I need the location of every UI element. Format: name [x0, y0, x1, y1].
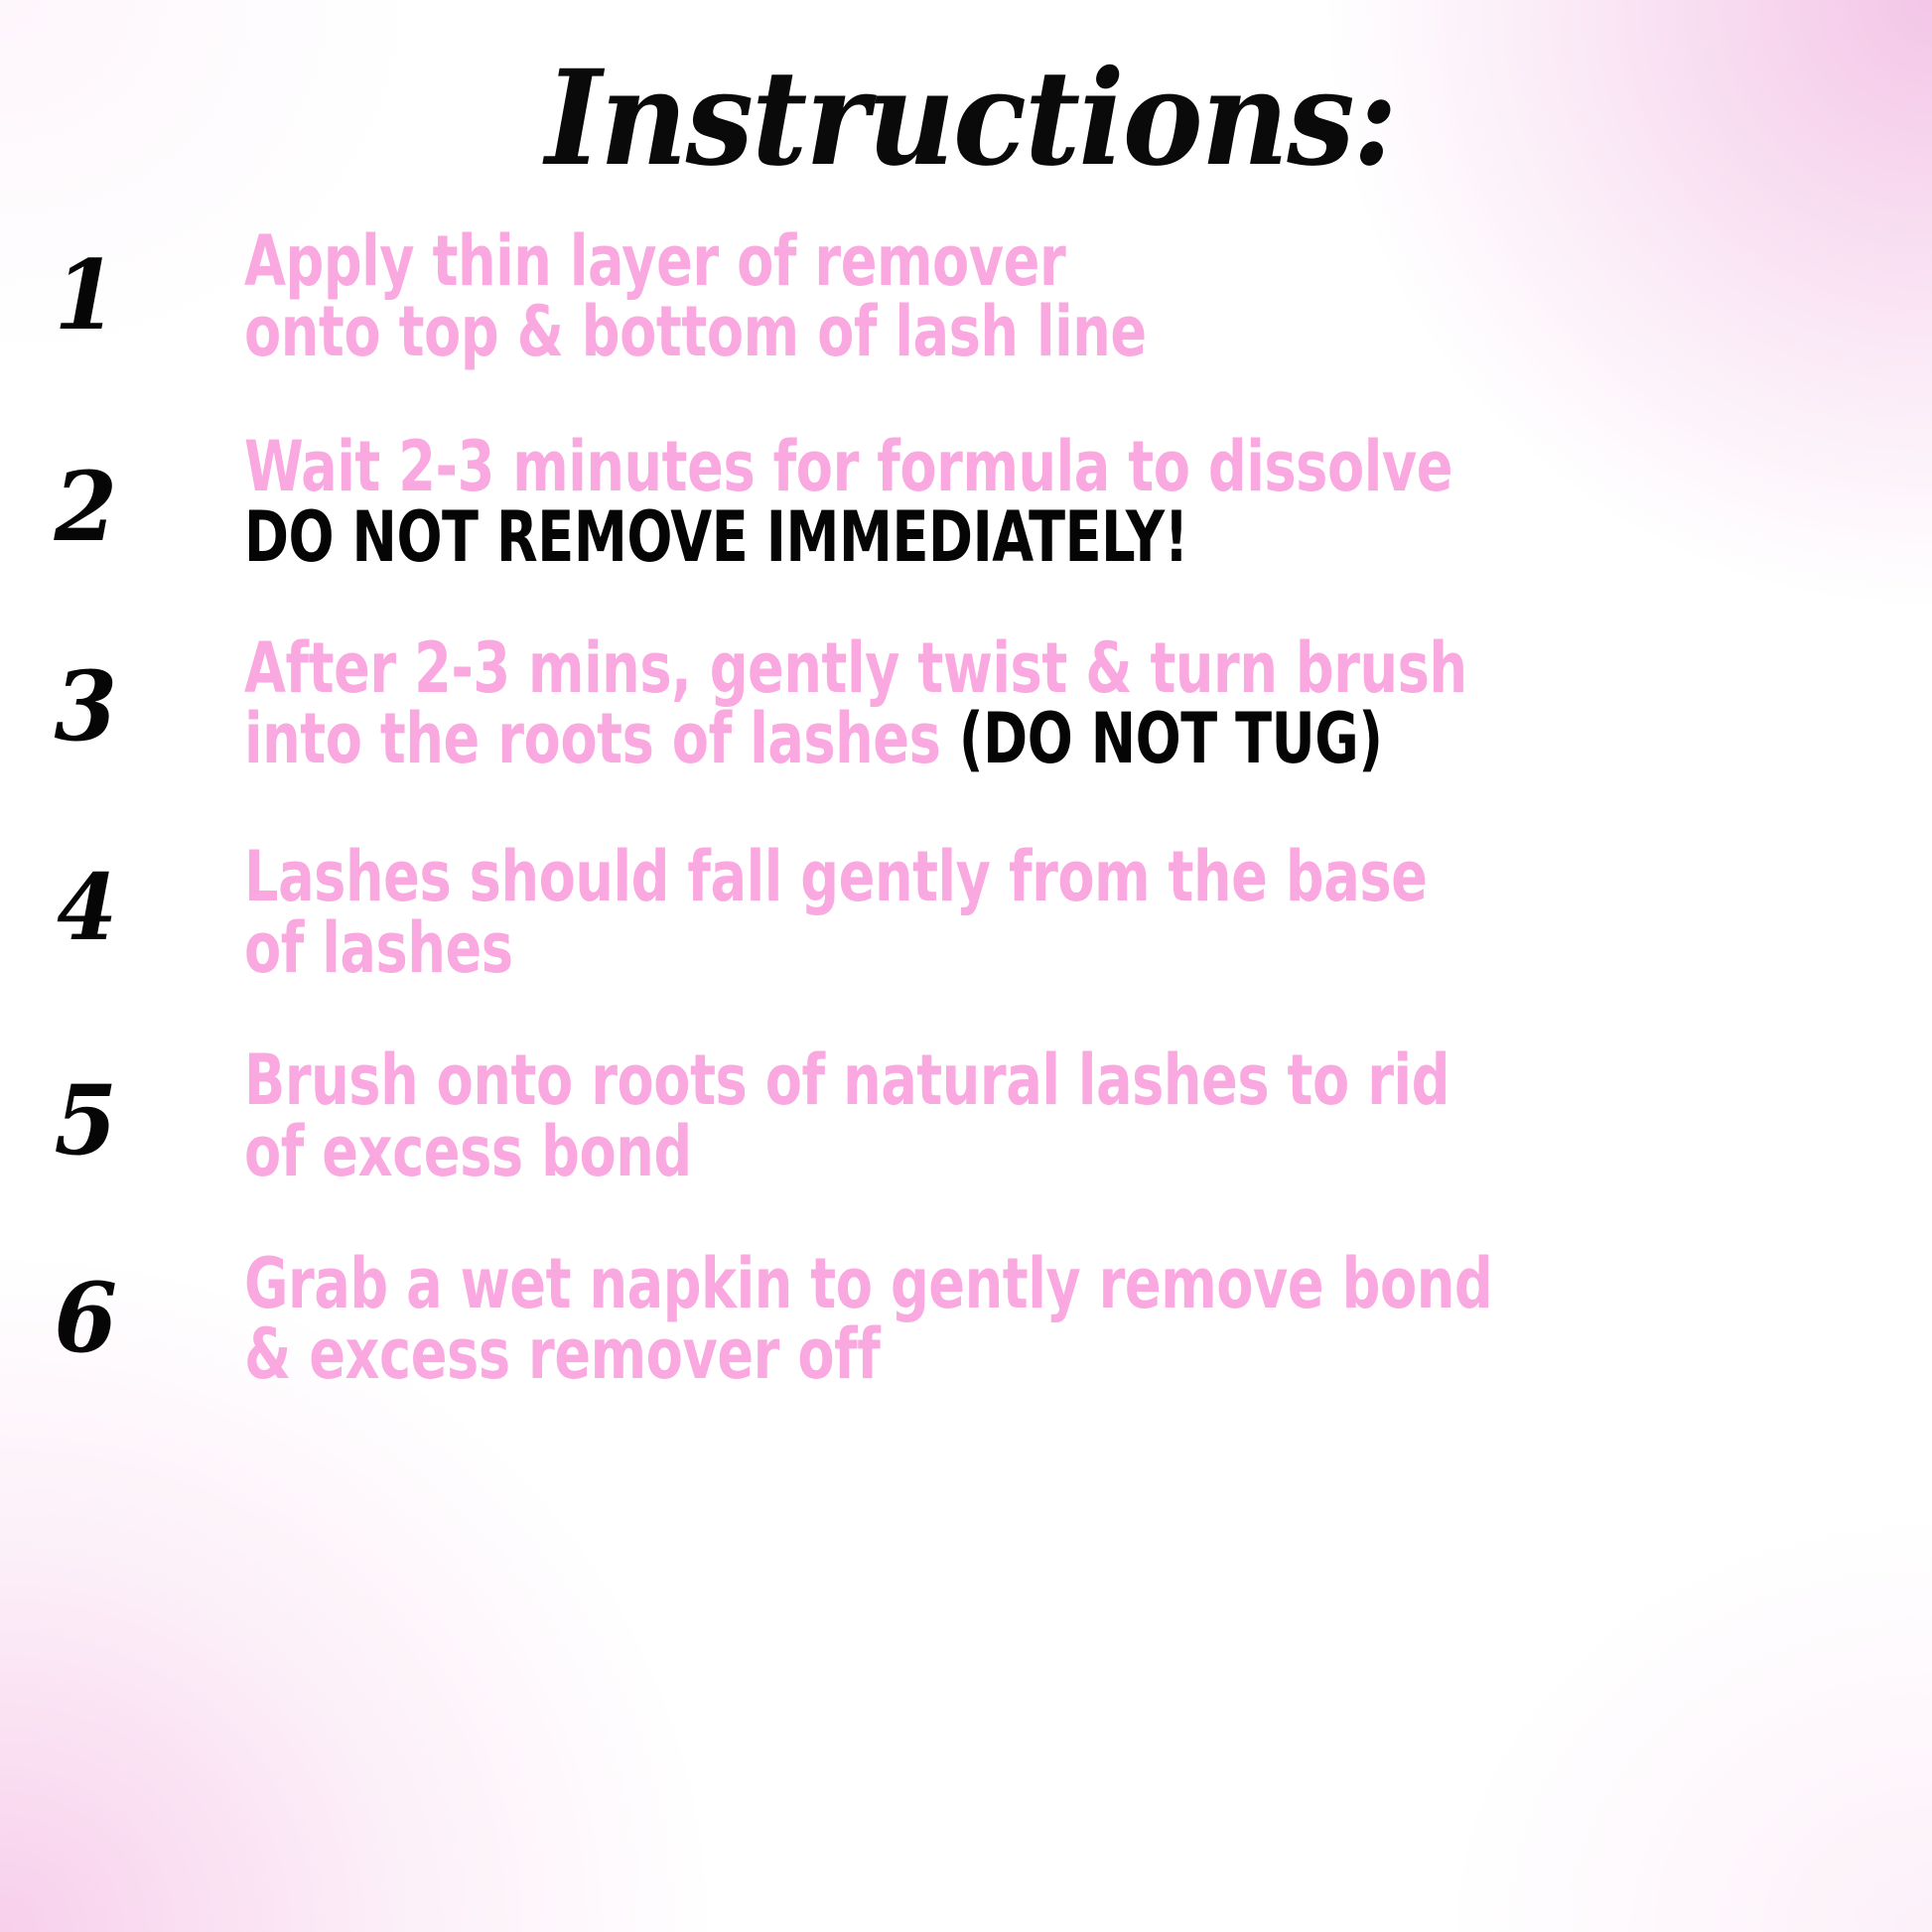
step-text-segment: Brush onto roots of natural lashes to ri… [244, 1039, 1449, 1121]
instruction-step: 6Grab a wet napkin to gently remove bond… [0, 1249, 1932, 1391]
step-text-line: Grab a wet napkin to gently remove bond [244, 1249, 1696, 1319]
instructions-page: Instructions: 1Apply thin layer of remov… [0, 0, 1932, 1932]
step-text-line: Lashes should fall gently from the base [244, 842, 1696, 912]
step-text: After 2-3 mins, gently twist & turn brus… [244, 633, 1696, 775]
page-title-container: Instructions: [0, 54, 1932, 185]
instruction-step: 2Wait 2-3 minutes for formula to dissolv… [0, 432, 1932, 574]
step-text-line: of lashes [244, 913, 1696, 984]
step-text-line: Brush onto roots of natural lashes to ri… [244, 1045, 1696, 1116]
step-number: 3 [6, 659, 117, 755]
step-text-segment: Wait 2-3 minutes for formula to dissolve [244, 426, 1452, 507]
instruction-step: 3After 2-3 mins, gently twist & turn bru… [0, 633, 1932, 775]
step-text-emphasis: (DO NOT TUG) [959, 698, 1383, 779]
instruction-step: 4Lashes should fall gently from the base… [0, 842, 1932, 984]
instruction-step: 5Brush onto roots of natural lashes to r… [0, 1045, 1932, 1187]
step-text-segment: Lashes should fall gently from the base [244, 836, 1427, 917]
step-text-line: of excess bond [244, 1117, 1696, 1187]
step-number: 5 [6, 1073, 117, 1169]
step-text-segment: of lashes [244, 907, 513, 989]
step-number: 6 [6, 1271, 117, 1366]
step-text-line: & excess remover off [244, 1319, 1696, 1390]
step-number: 4 [6, 862, 117, 953]
step-text-line: onto top & bottom of lash line [244, 297, 1696, 367]
step-text: Lashes should fall gently from the baseo… [244, 842, 1696, 984]
instruction-steps-list: 1Apply thin layer of removeronto top & b… [0, 226, 1932, 1391]
step-text: Grab a wet napkin to gently remove bond&… [244, 1249, 1696, 1391]
page-title: Instructions: [546, 54, 1397, 185]
step-text: Apply thin layer of removeronto top & bo… [244, 226, 1696, 368]
instruction-step: 1Apply thin layer of removeronto top & b… [0, 226, 1932, 368]
step-text-segment: into the roots of lashes [244, 698, 959, 779]
step-text: Wait 2-3 minutes for formula to dissolve… [244, 432, 1696, 574]
step-text-segment: After 2-3 mins, gently twist & turn brus… [244, 627, 1467, 709]
step-text-segment: onto top & bottom of lash line [244, 291, 1147, 372]
step-text-emphasis: DO NOT REMOVE IMMEDIATELY! [244, 496, 1188, 578]
step-number: 1 [6, 248, 117, 344]
step-text-segment: & excess remover off [244, 1313, 880, 1395]
step-text-segment: of excess bond [244, 1111, 692, 1192]
step-number: 2 [6, 460, 117, 555]
step-text-segment: Grab a wet napkin to gently remove bond [244, 1243, 1492, 1324]
step-text-line: Wait 2-3 minutes for formula to dissolve [244, 432, 1696, 502]
step-text-line: into the roots of lashes (DO NOT TUG) [244, 704, 1696, 774]
step-text: Brush onto roots of natural lashes to ri… [244, 1045, 1696, 1187]
step-text-line: DO NOT REMOVE IMMEDIATELY! [244, 502, 1696, 573]
step-text-line: After 2-3 mins, gently twist & turn brus… [244, 633, 1696, 704]
step-text-line: Apply thin layer of remover [244, 226, 1696, 297]
step-text-segment: Apply thin layer of remover [244, 220, 1065, 302]
